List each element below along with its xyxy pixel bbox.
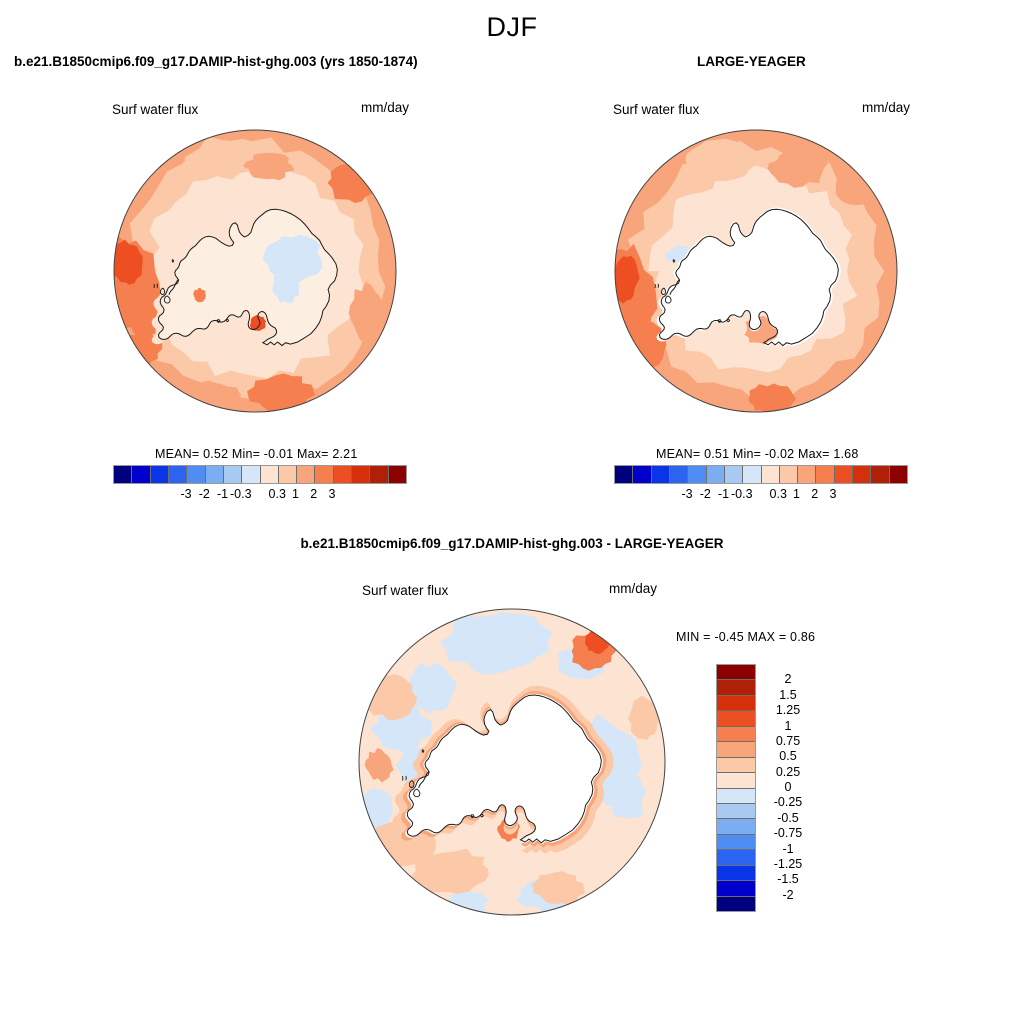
colorbar-segment (688, 466, 706, 483)
colorbar-segment (717, 665, 755, 680)
top-left-units-label: mm/day (361, 100, 409, 115)
colorbar-segment (725, 466, 743, 483)
colorbar-segment (743, 466, 761, 483)
map-top-right[interactable] (614, 129, 898, 413)
colorbar-tick-label: 0.5 (760, 749, 816, 763)
colorbar-segment (707, 466, 725, 483)
colorbar-segment (871, 466, 889, 483)
colorbar-segment (890, 466, 907, 483)
colorbar-tick-label: 1 (292, 487, 299, 501)
colorbar-segment (762, 466, 780, 483)
colorbar-segment (224, 466, 242, 483)
top-left-panel-title: b.e21.B1850cmip6.f09_g17.DAMIP-hist-ghg.… (14, 54, 418, 69)
colorbar-tick-label: -3 (180, 487, 191, 501)
colorbar-tick-label: -0.5 (760, 811, 816, 825)
colorbar-segment (717, 758, 755, 773)
colorbar-tick-label: -0.25 (760, 795, 816, 809)
colorbar-segment (717, 850, 755, 865)
colorbar-tick-label: 1 (760, 719, 816, 733)
colorbar-segment (206, 466, 224, 483)
difference-panel-title: b.e21.B1850cmip6.f09_g17.DAMIP-hist-ghg.… (0, 536, 1024, 551)
colorbar-segment (279, 466, 297, 483)
colorbar-segment (717, 897, 755, 911)
colorbar-segment (717, 742, 755, 757)
colorbar-tick-label: -2 (700, 487, 711, 501)
colorbar-segment (334, 466, 352, 483)
colorbar-segment (352, 466, 370, 483)
colorbar-segment (615, 466, 633, 483)
colorbar-segment (187, 466, 205, 483)
colorbar-segment (717, 680, 755, 695)
colorbar-segment (717, 711, 755, 726)
colorbar-difference[interactable] (716, 664, 756, 912)
colorbar-tick-label: 0 (760, 780, 816, 794)
colorbar-segment (261, 466, 279, 483)
season-title: DJF (0, 12, 1024, 43)
colorbar-segment (297, 466, 315, 483)
difference-stats: MIN = -0.45 MAX = 0.86 (676, 630, 815, 644)
colorbar-segment (780, 466, 798, 483)
colorbar-tick-label: -1.25 (760, 857, 816, 871)
colorbar-tick-label: -1 (718, 487, 729, 501)
colorbar-segment (798, 466, 816, 483)
colorbar-segment (132, 466, 150, 483)
colorbar-segment (151, 466, 169, 483)
colorbar-segment (242, 466, 260, 483)
colorbar-tick-label: -2 (760, 888, 816, 902)
colorbar-segment (816, 466, 834, 483)
top-right-panel-title: LARGE-YEAGER (697, 54, 806, 69)
colorbar-tick-label: 1.5 (760, 688, 816, 702)
colorbar-tick-label: 3 (329, 487, 336, 501)
colorbar-segment (670, 466, 688, 483)
colorbar-tick-label: 0.3 (770, 487, 787, 501)
colorbar-segment (370, 466, 388, 483)
polar-map-svg (614, 129, 898, 413)
colorbar-segment (835, 466, 853, 483)
top-right-units-label: mm/day (862, 100, 910, 115)
colorbar-tick-label: -0.75 (760, 826, 816, 840)
colorbar-segment (717, 696, 755, 711)
colorbar-tick-label: 1.25 (760, 703, 816, 717)
colorbar-segment (717, 819, 755, 834)
colorbar-tick-label: -3 (681, 487, 692, 501)
colorbar-tick-label: 0.25 (760, 765, 816, 779)
colorbar-segment (717, 866, 755, 881)
map-top-left[interactable] (113, 129, 397, 413)
colorbar-top-right-ticks: -3-2-1-0.30.3123 (614, 487, 906, 505)
colorbar-top-left[interactable] (113, 465, 407, 484)
colorbar-segment (717, 835, 755, 850)
colorbar-segment (315, 466, 333, 483)
colorbar-tick-label: 3 (830, 487, 837, 501)
colorbar-segment (853, 466, 871, 483)
colorbar-tick-label: -1.5 (760, 872, 816, 886)
difference-field-label: Surf water flux (362, 583, 448, 598)
top-right-stats: MEAN= 0.51 Min= -0.02 Max= 1.68 (656, 447, 858, 461)
colorbar-segment (717, 727, 755, 742)
colorbar-segment (717, 804, 755, 819)
colorbar-segment (114, 466, 132, 483)
colorbar-tick-label: 2 (811, 487, 818, 501)
colorbar-tick-label: 0.3 (269, 487, 286, 501)
polar-map-svg (358, 608, 666, 916)
top-left-field-label: Surf water flux (112, 102, 198, 117)
colorbar-top-right[interactable] (614, 465, 908, 484)
colorbar-tick-label: 2 (760, 672, 816, 686)
colorbar-segment (717, 881, 755, 896)
top-left-stats: MEAN= 0.52 Min= -0.01 Max= 2.21 (155, 447, 357, 461)
colorbar-top-left-ticks: -3-2-1-0.30.3123 (113, 487, 405, 505)
colorbar-tick-label: 0.75 (760, 734, 816, 748)
colorbar-tick-label: 2 (310, 487, 317, 501)
colorbar-tick-label: -0.3 (230, 487, 252, 501)
colorbar-segment (169, 466, 187, 483)
colorbar-segment (652, 466, 670, 483)
colorbar-segment (633, 466, 651, 483)
colorbar-segment (389, 466, 406, 483)
polar-map-svg (113, 129, 397, 413)
colorbar-tick-label: -1 (760, 842, 816, 856)
colorbar-tick-label: 1 (793, 487, 800, 501)
colorbar-tick-label: -2 (199, 487, 210, 501)
difference-units-label: mm/day (609, 581, 657, 596)
colorbar-segment (717, 789, 755, 804)
colorbar-tick-label: -0.3 (731, 487, 753, 501)
map-difference[interactable] (358, 608, 666, 916)
colorbar-tick-label: -1 (217, 487, 228, 501)
colorbar-segment (717, 773, 755, 788)
top-right-field-label: Surf water flux (613, 102, 699, 117)
